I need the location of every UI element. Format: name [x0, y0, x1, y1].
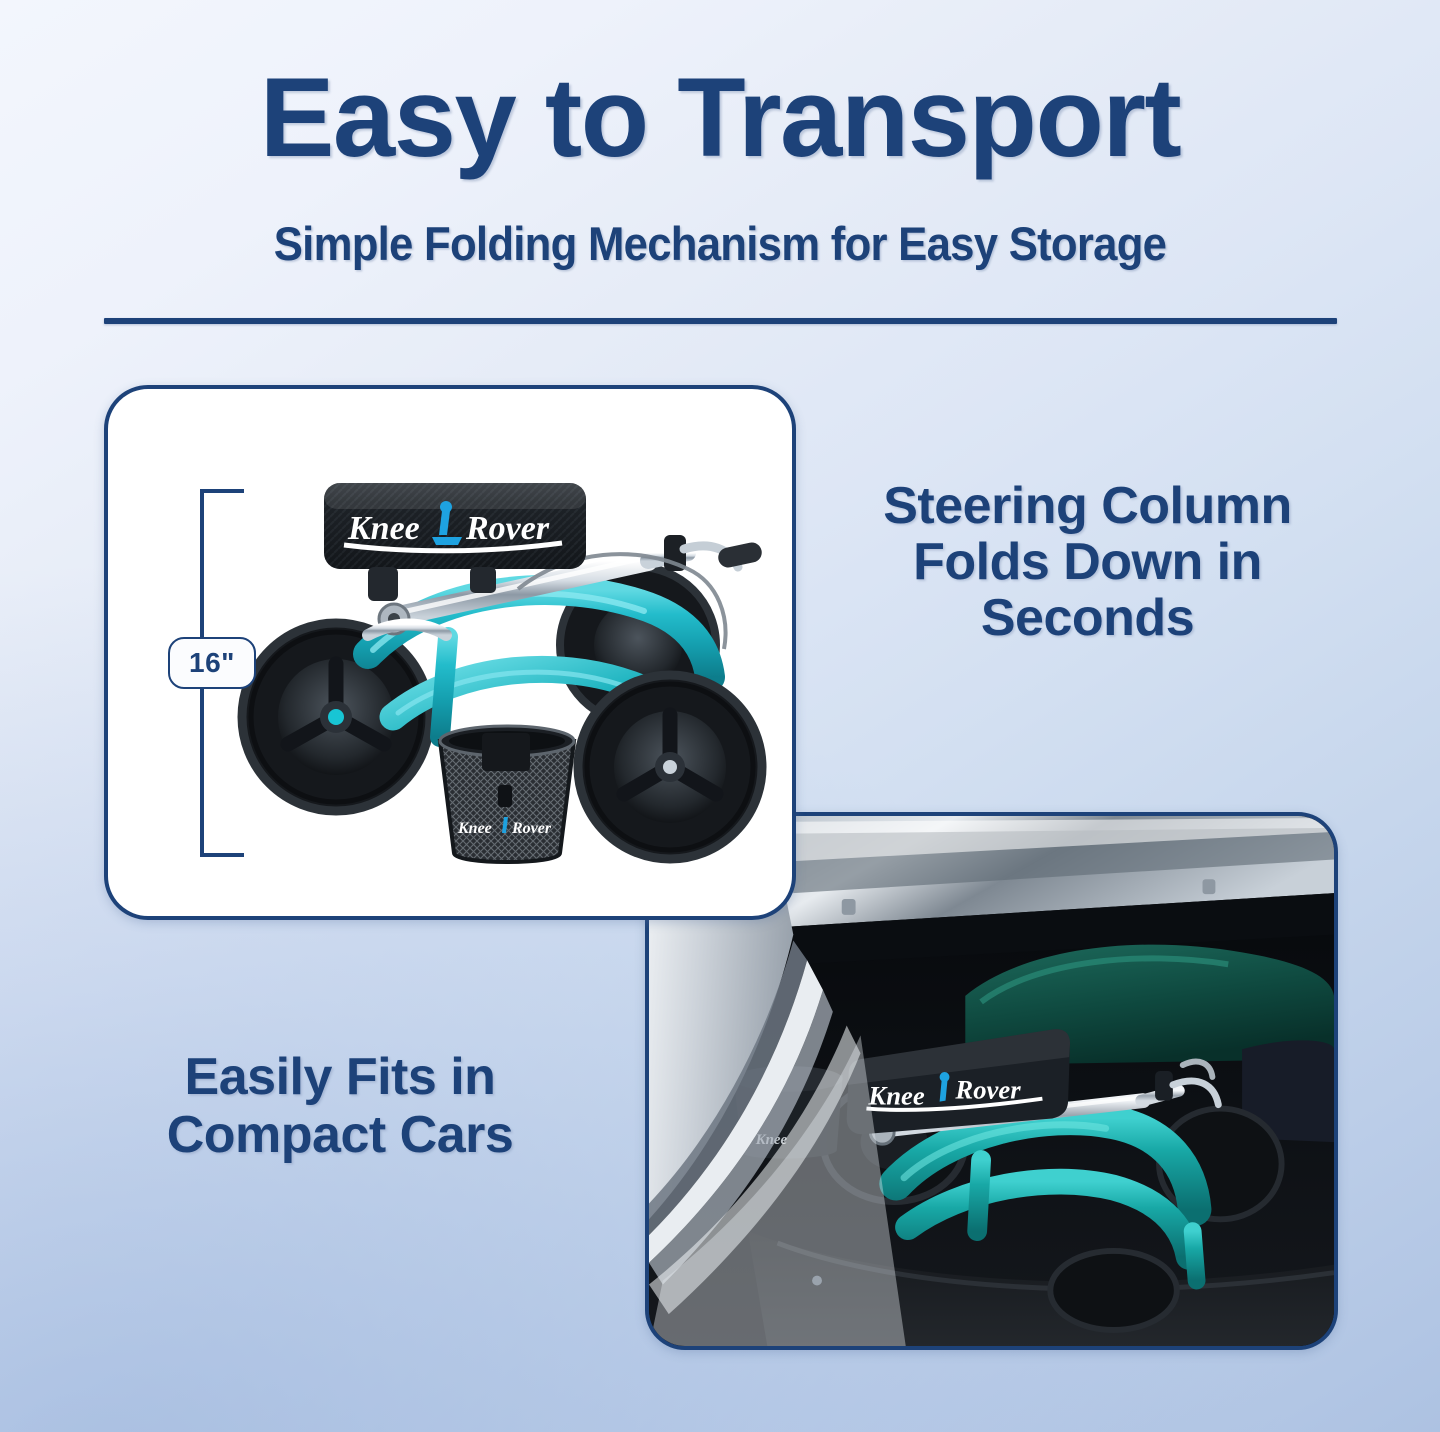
trunk-logo-text-1: Knee [867, 1081, 924, 1111]
dimension-indicator: 16" [174, 489, 234, 857]
knee-scooter-illustration: Knee Rover Knee Rover [218, 449, 793, 899]
feature-right-line-2: Folds Down in [815, 534, 1360, 590]
trunk-logo-text-2: Rover [954, 1075, 1021, 1105]
dimension-cap-bottom [200, 853, 244, 857]
header-divider [104, 318, 1337, 324]
feature-right-line-1: Steering Column [815, 478, 1360, 534]
basket-logo-text-1: Knee [457, 820, 492, 837]
dimension-badge: 16" [168, 637, 256, 689]
kneerover-logo-text-2: Rover [465, 510, 550, 547]
product-image-card: 16" [104, 385, 796, 920]
feature-left-line-2: Compact Cars [60, 1106, 620, 1164]
basket-logo-text-2: Rover [511, 820, 552, 837]
dimension-cap-top [200, 489, 244, 493]
page-subtitle: Simple Folding Mechanism for Easy Storag… [50, 216, 1389, 271]
header: Easy to Transport Simple Folding Mechani… [0, 0, 1440, 271]
feature-compact-cars: Easily Fits in Compact Cars [60, 1048, 620, 1164]
feature-left-line-1: Easily Fits in [60, 1048, 620, 1106]
front-wheel [578, 675, 762, 859]
feature-right-line-3: Seconds [815, 590, 1360, 646]
kneerover-logo-text-1: Knee [347, 510, 420, 547]
page-title: Easy to Transport [0, 62, 1440, 174]
wire-basket: Knee Rover [440, 726, 574, 862]
feature-steering-column: Steering Column Folds Down in Seconds [815, 478, 1360, 646]
